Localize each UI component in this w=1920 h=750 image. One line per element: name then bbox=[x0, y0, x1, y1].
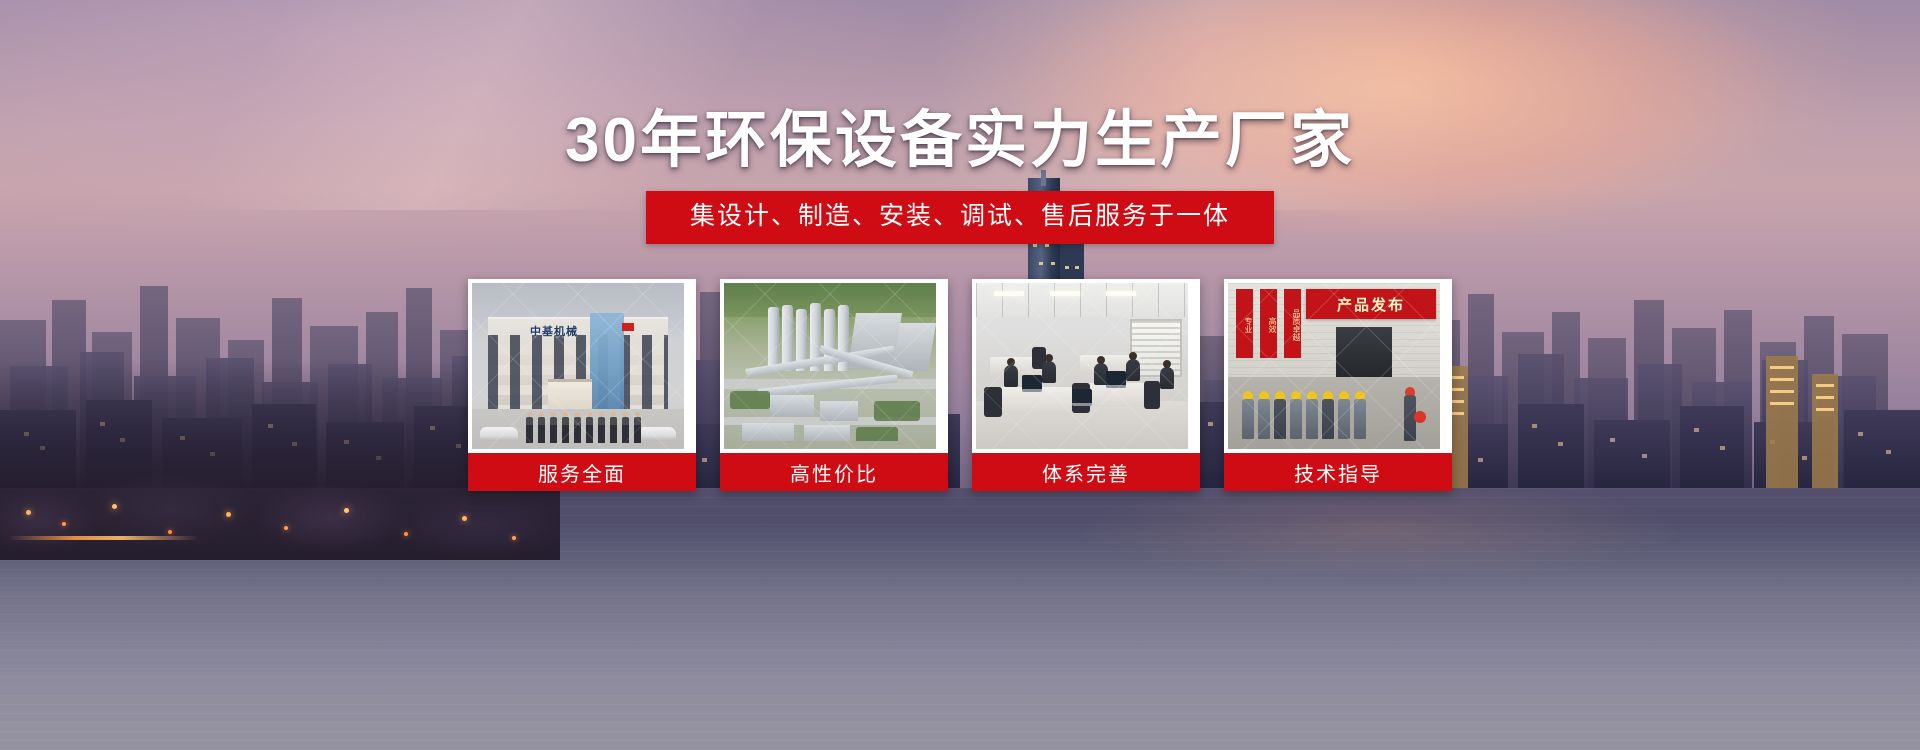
feature-card[interactable]: 产品发布 专业 高效 品质卓越 bbox=[1224, 279, 1452, 491]
workshop-vertical-banner-mid: 高效 bbox=[1260, 289, 1277, 358]
card-caption: 服务全面 bbox=[468, 453, 696, 491]
building-sign-text: 中基机械 bbox=[530, 323, 578, 339]
subtitle-ribbon: 集设计、制造、安装、调试、售后服务于一体 bbox=[646, 191, 1274, 244]
card-photo-headquarters: 中基机械 bbox=[472, 283, 684, 449]
workshop-banner-text: 产品发布 bbox=[1306, 289, 1436, 319]
feature-card[interactable]: 高性价比 bbox=[720, 279, 948, 491]
feature-card[interactable]: 体系完善 bbox=[972, 279, 1200, 491]
page-title: 30年环保设备实力生产厂家 bbox=[0, 104, 1920, 177]
card-photo-plant bbox=[724, 283, 936, 449]
water-reflection bbox=[980, 490, 1880, 630]
workshop-vertical-banner-left: 专业 bbox=[1236, 289, 1253, 358]
hero-banner: 30年环保设备实力生产厂家 集设计、制造、安装、调试、售后服务于一体 中基机械 bbox=[0, 0, 1920, 750]
card-caption: 技术指导 bbox=[1224, 453, 1452, 491]
card-caption: 体系完善 bbox=[972, 453, 1200, 491]
card-caption: 高性价比 bbox=[720, 453, 948, 491]
feature-cards-row: 中基机械 服务全面 bbox=[468, 279, 1452, 491]
workshop-vertical-banner-right: 品质卓越 bbox=[1284, 289, 1301, 358]
card-photo-workshop: 产品发布 专业 高效 品质卓越 bbox=[1228, 283, 1440, 449]
card-photo-office bbox=[976, 283, 1188, 449]
feature-card[interactable]: 中基机械 服务全面 bbox=[468, 279, 696, 491]
